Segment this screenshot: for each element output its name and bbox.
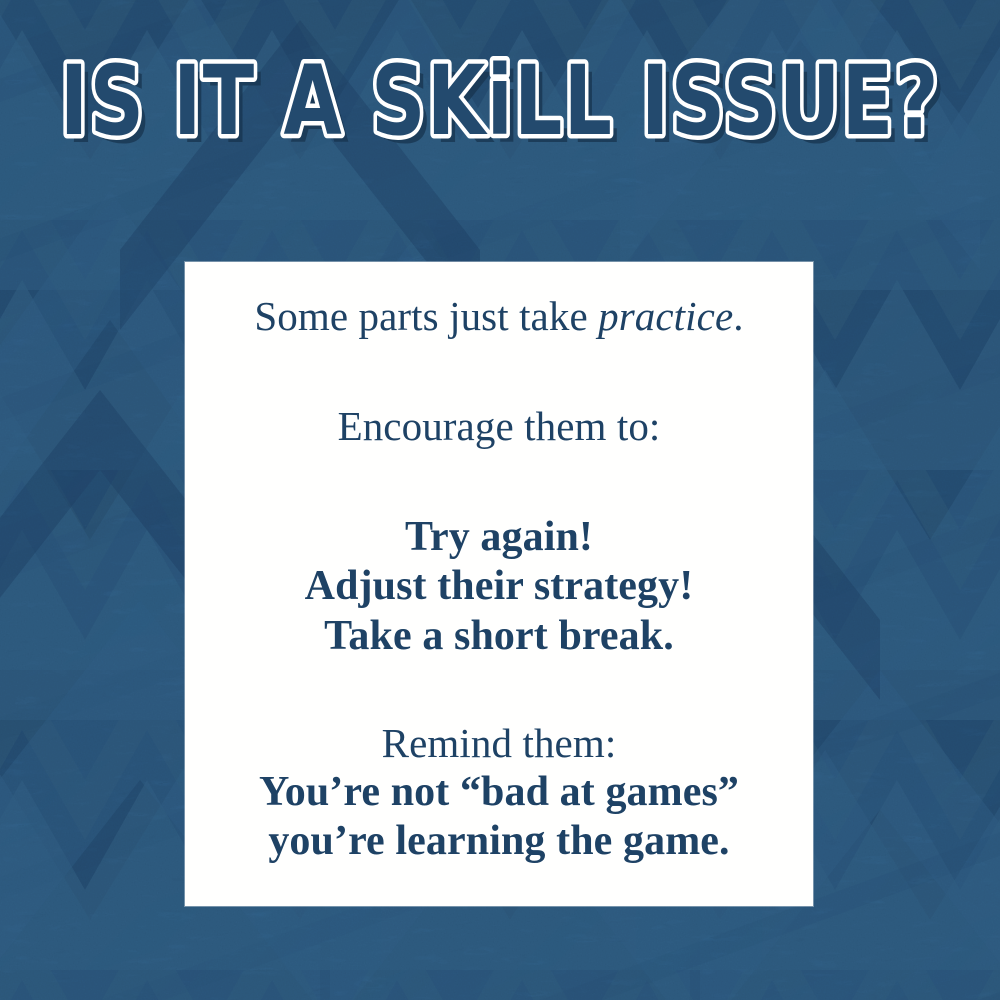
card-line-action-3: Take a short break. [203,612,795,662]
poster-canvas: .tt { font-family:"DejaVu Sans", sans-se… [0,0,1000,1000]
card-line-reminder-2: you’re learning the game. [203,817,795,867]
card-line-reminder-lead: Remind them: [203,719,795,767]
intro-post: . [733,293,743,339]
message-card: Some parts just take practice. Encourage… [185,262,813,906]
intro-emphasis: practice [598,293,733,339]
poster-title: .tt { font-family:"DejaVu Sans", sans-se… [0,28,1000,178]
title-outline-text: IS IT A SKiLL ISSUE? [60,45,940,157]
card-line-intro: Some parts just take practice. [203,292,795,340]
card-line-reminder-1: You’re not “bad at games” [203,768,795,818]
poster-title-artwork: .tt { font-family:"DejaVu Sans", sans-se… [40,38,960,168]
intro-pre: Some parts just take [254,293,598,339]
card-line-action-1: Try again! [203,513,795,563]
card-line-action-2: Adjust their strategy! [203,562,795,612]
card-line-lead-in: Encourage them to: [203,402,795,450]
